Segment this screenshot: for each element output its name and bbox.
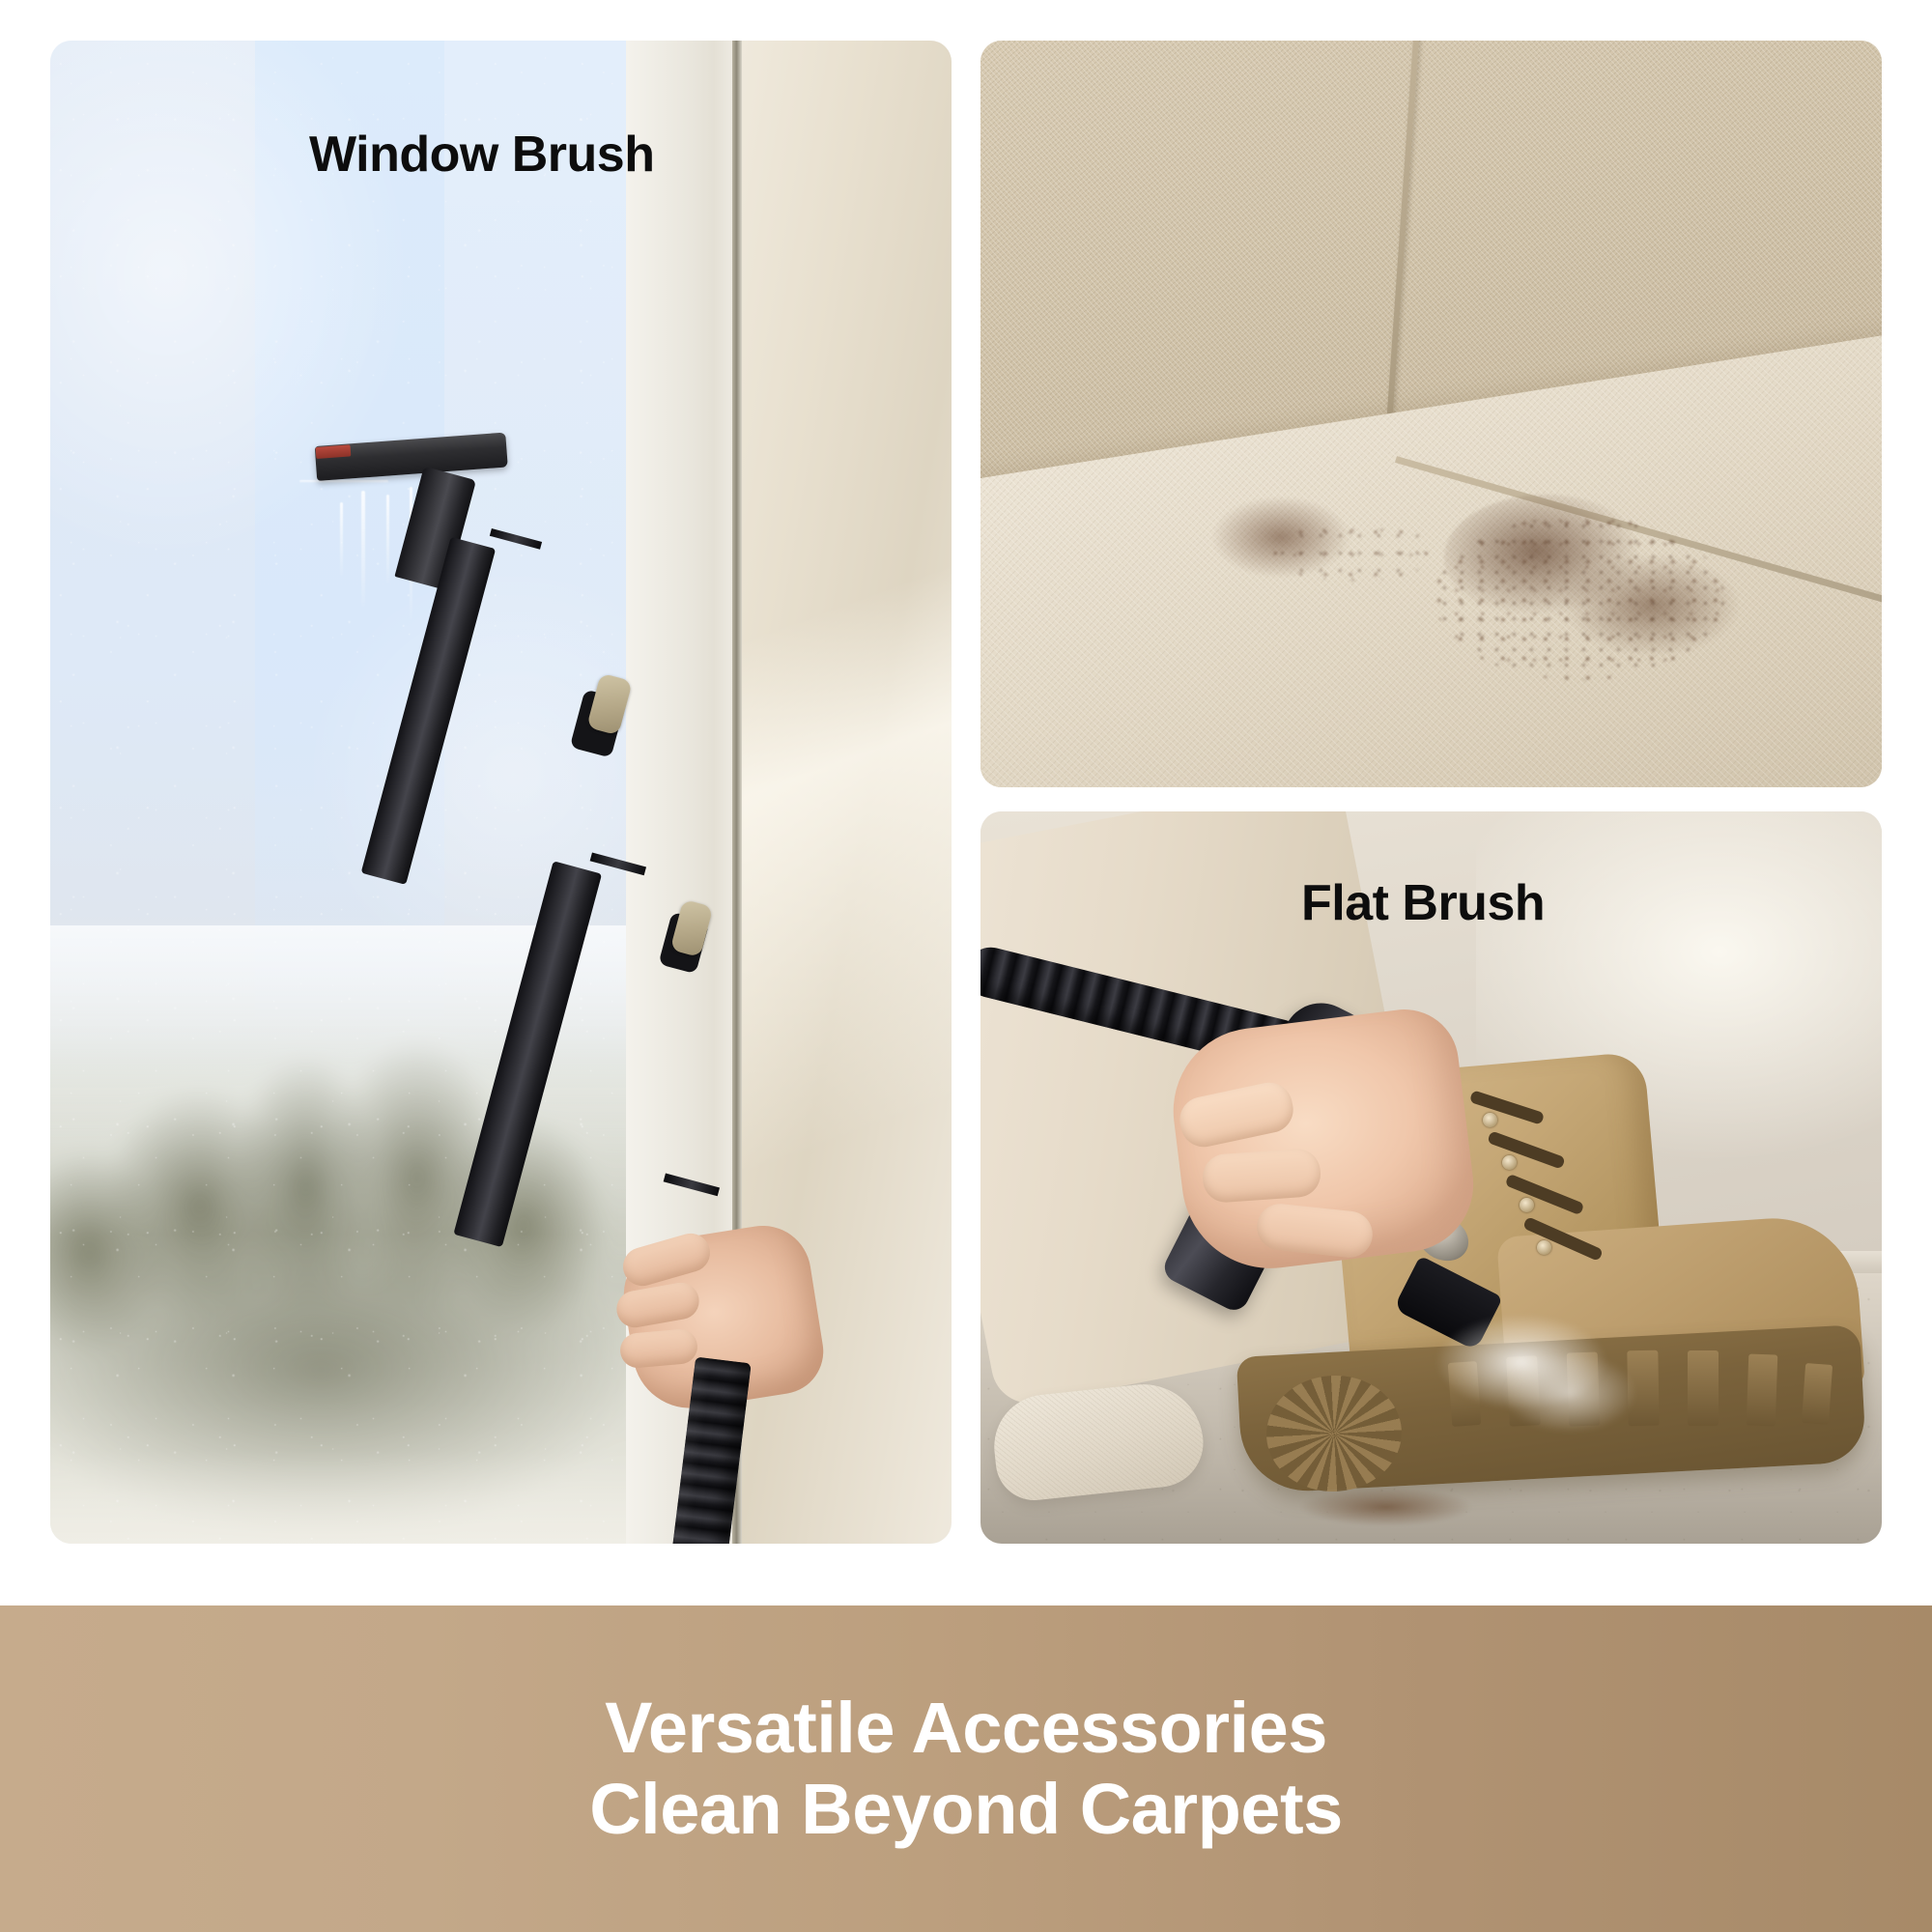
water-streak	[299, 480, 388, 483]
dirt-residue	[1299, 1488, 1473, 1526]
sole-lug	[1688, 1350, 1719, 1426]
product-feature-collage: Window Brush Sofa Brush Sofa Brush	[0, 0, 1932, 1932]
boot-eyelet	[1502, 1155, 1517, 1170]
steam-spray	[1502, 1352, 1637, 1434]
panel-label-window-brush: Window Brush	[309, 126, 655, 184]
water-streak	[361, 491, 365, 607]
finger	[1201, 1148, 1321, 1204]
water-streak	[340, 502, 343, 576]
headline-line-2: Clean Beyond Carpets	[589, 1769, 1343, 1850]
boot-eyelet	[1483, 1113, 1497, 1127]
water-droplets	[50, 41, 638, 1544]
panel-window-brush: Window Brush	[50, 41, 952, 1544]
debris-speck	[1435, 516, 1724, 680]
debris-speck	[1270, 524, 1435, 582]
headline-banner: Versatile Accessories Clean Beyond Carpe…	[0, 1605, 1932, 1932]
water-streak	[386, 495, 389, 583]
sole-lug	[1802, 1363, 1833, 1425]
headline-line-1: Versatile Accessories	[605, 1688, 1327, 1769]
sole-lug	[1747, 1353, 1778, 1426]
boot-eyelet	[1520, 1198, 1534, 1212]
boot-eyelet	[1537, 1240, 1551, 1255]
panel-flat-brush: Flat Brush	[980, 811, 1882, 1544]
panel-sofa-brush: Sofa Brush Sofa Brush	[980, 41, 1882, 787]
panel-label-flat-brush: Flat Brush	[1301, 874, 1545, 932]
